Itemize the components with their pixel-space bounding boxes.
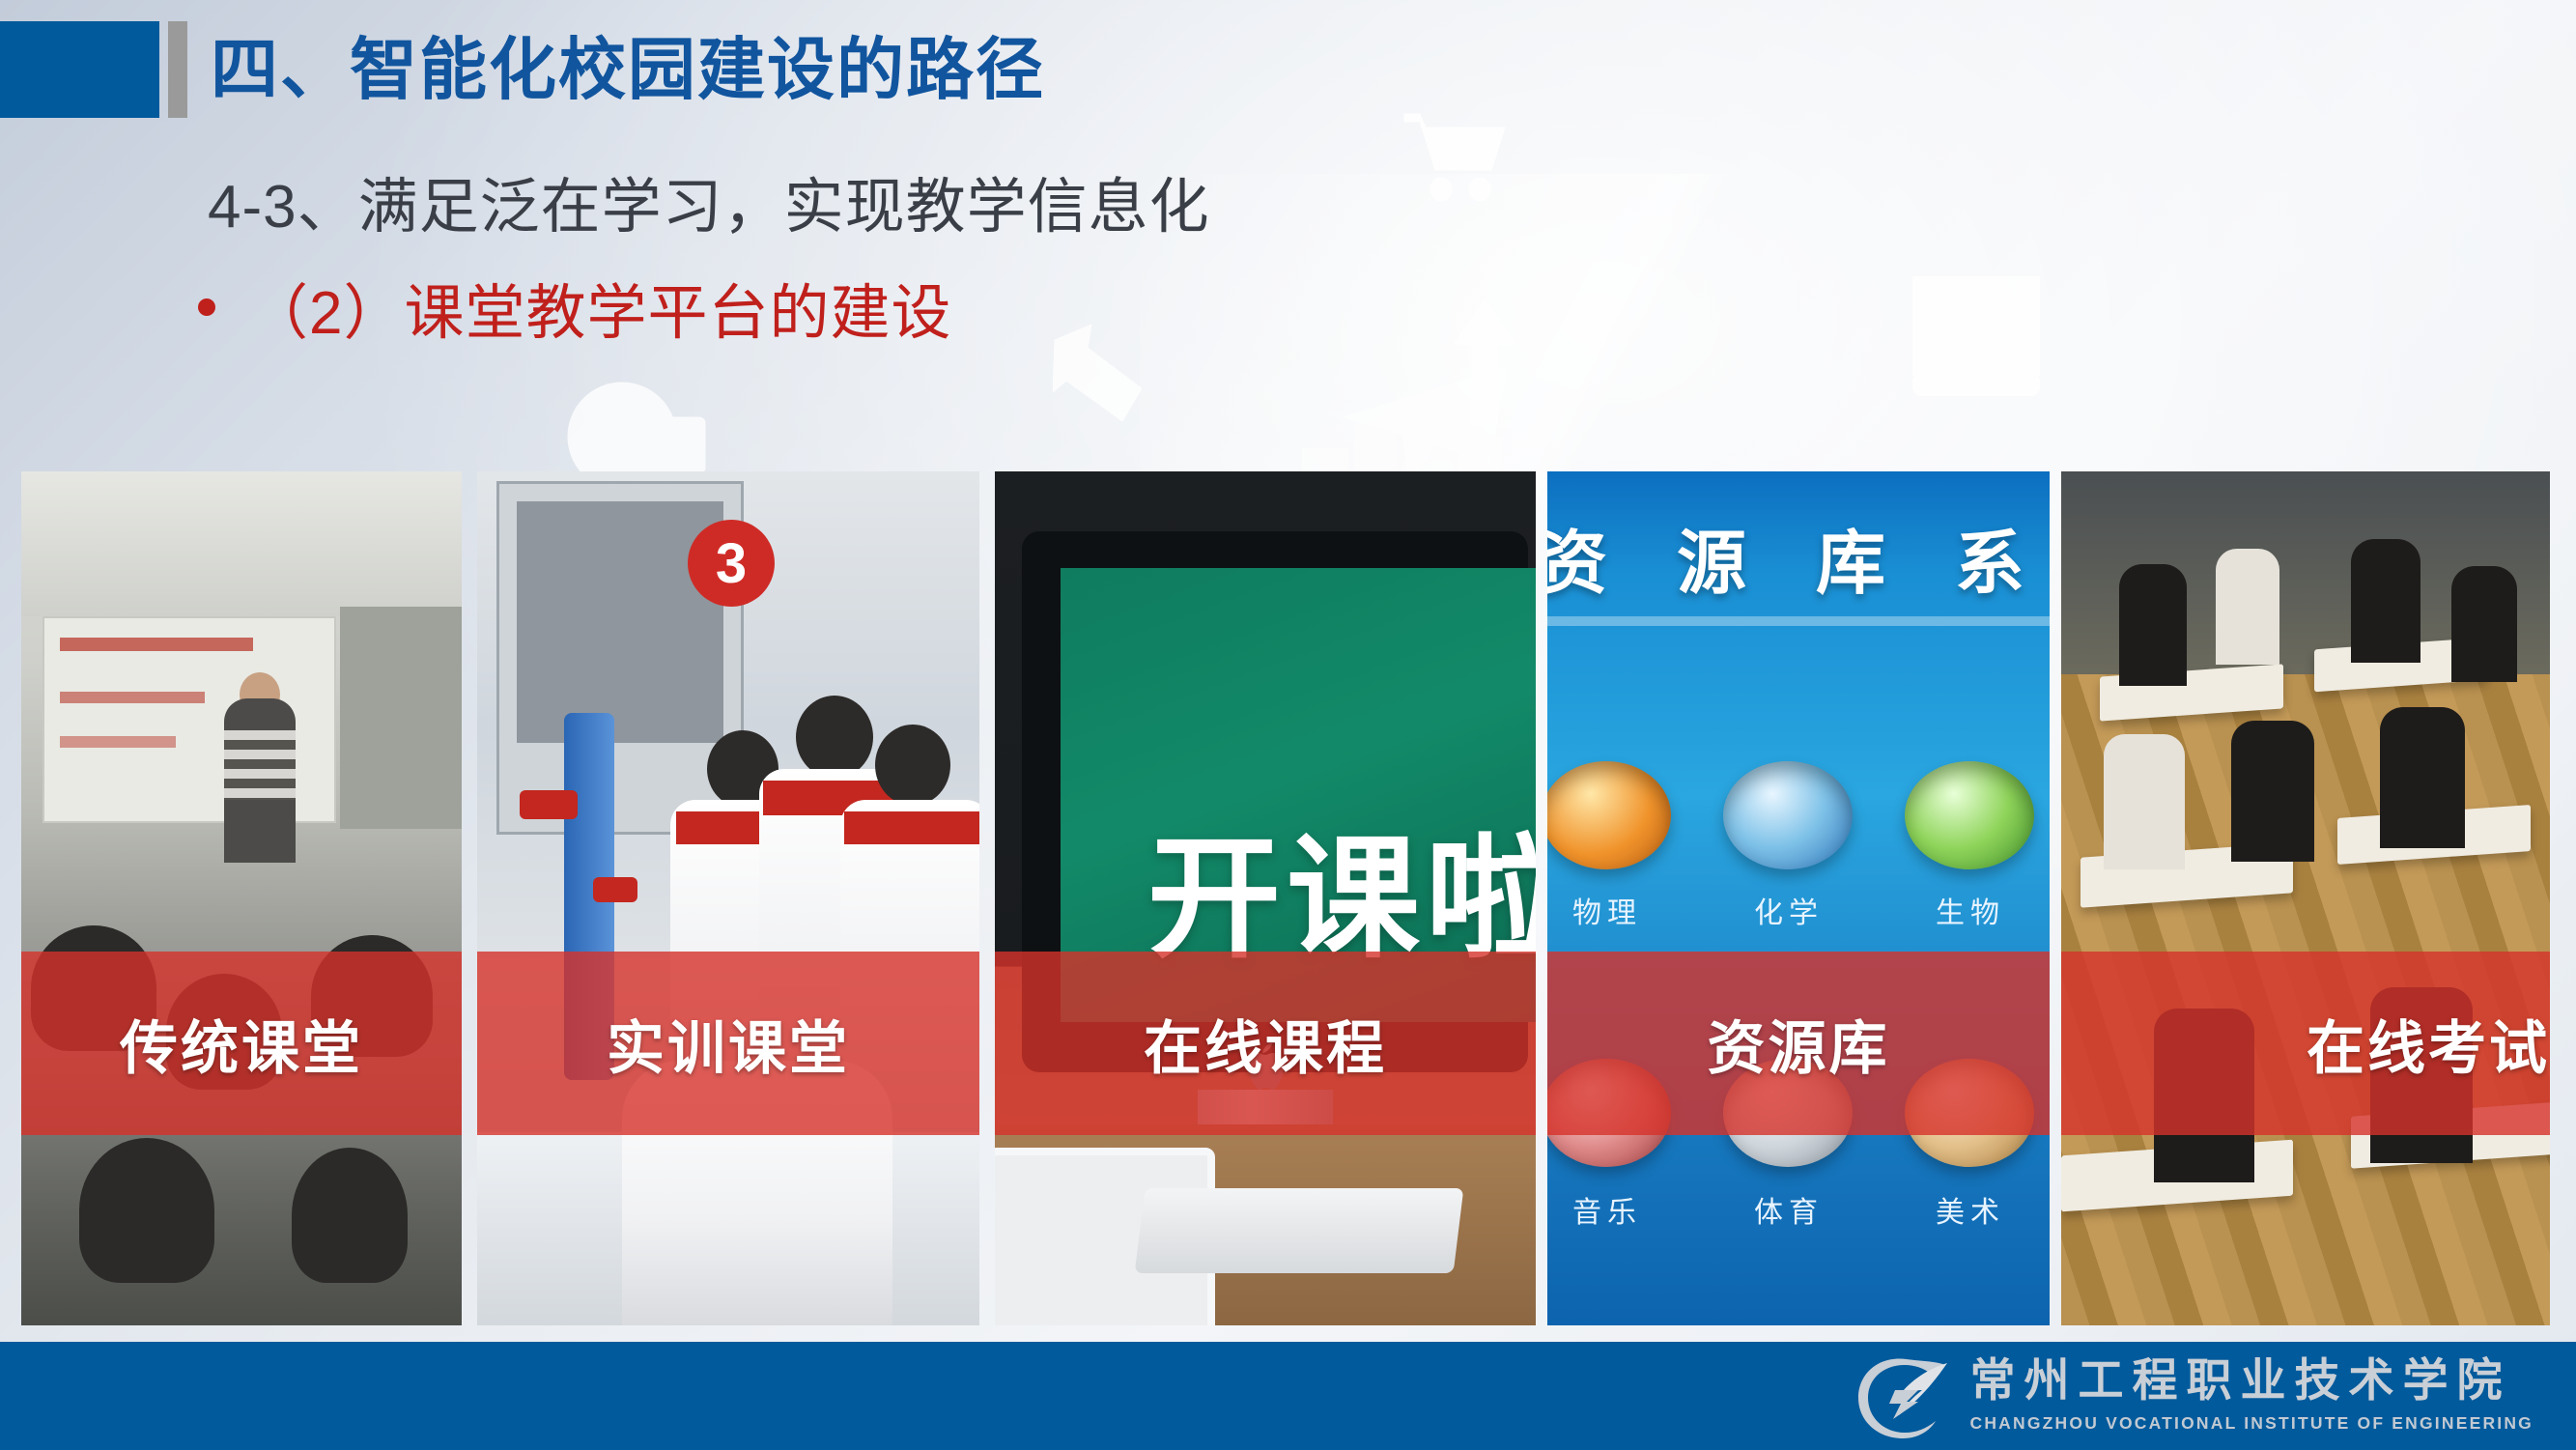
shopping-cart-icon [1402,108,1509,201]
panel-caption-band: 资源库 [1547,952,2050,1135]
panel-resource-library[interactable]: 资 源 库 系 统 物理 化学 生物 音乐 体育 美术 资源库 [1547,471,2050,1325]
panel-training-classroom[interactable]: 3 实训课堂 [477,471,979,1325]
bullet-item: （2）课堂教学平台的建设 [198,264,951,351]
subject-label-music: 音乐 [1547,1188,1684,1231]
panel-caption-label: 在线考试 [2307,1002,2550,1086]
institution-logo: 常州工程职业技术学院 CHANGZHOU VOCATIONAL INSTITUT… [1851,1350,2534,1442]
subject-label-biology: 生物 [1893,889,2048,931]
institution-name-block: 常州工程职业技术学院 CHANGZHOU VOCATIONAL INSTITUT… [1970,1358,2534,1433]
presentation-slide: 四、智能化校园建设的路径 4-3、满足泛在学习，实现教学信息化 （2）课堂教学平… [0,0,2576,1450]
arrow-up-icon [1455,299,1514,425]
bullet-label: （2）课堂教学平台的建设 [248,264,951,351]
panel-caption-label: 在线课程 [1144,1002,1387,1086]
institution-name-en: CHANGZHOU VOCATIONAL INSTITUTE OF ENGINE… [1970,1413,2534,1434]
panel-photo-training-classroom: 3 [477,471,979,1325]
footer-bar: 常州工程职业技术学院 CHANGZHOU VOCATIONAL INSTITUT… [0,1342,2576,1450]
panel-online-exam[interactable]: 在线考试 [2061,471,2550,1325]
image-panel-strip: 传统课堂 3 [0,471,2576,1325]
subject-label-pe: 体育 [1712,1188,1866,1231]
header-divider-bar [168,21,187,118]
panel-photo-online-exam [2061,471,2550,1325]
panel-online-course[interactable]: 开课啦 在线课程 [995,471,1536,1325]
header-accent-block [0,21,159,118]
subject-label-physics: 物理 [1547,889,1684,931]
monitor-chart-icon [1912,276,2040,396]
panel-caption-band: 在线课程 [995,952,1536,1135]
panel-badge: 3 [688,520,775,607]
paper-plane-icon [1343,367,1507,483]
panel-traditional-classroom[interactable]: 传统课堂 [21,471,462,1325]
panel-caption-band: 实训课堂 [477,952,979,1135]
bullet-dot-icon [198,299,215,316]
panel-caption-band: 传统课堂 [21,952,462,1135]
panel-photo-traditional-classroom [21,471,462,1325]
panel-photo-resource-library: 资 源 库 系 统 物理 化学 生物 音乐 体育 美术 [1547,471,2050,1325]
arrow-up-left-icon [1053,325,1142,421]
subject-label-chemistry: 化学 [1712,889,1866,931]
panel-caption-band: 在线考试 [2061,952,2550,1135]
page-title: 四、智能化校园建设的路径 [211,21,1045,118]
panel-caption-label: 实训课堂 [607,1002,850,1086]
panel-caption-label: 资源库 [1708,1002,1890,1086]
resource-system-title: 资 源 库 系 统 [1547,506,2050,608]
panel-photo-online-course: 开课啦 [995,471,1536,1325]
cz-swoosh-logo-icon [1851,1350,1951,1442]
section-subtitle: 4-3、满足泛在学习，实现教学信息化 [208,157,1210,244]
panel-caption-label: 传统课堂 [120,1002,363,1086]
subject-label-art: 美术 [1893,1188,2048,1231]
institution-name-cn: 常州工程职业技术学院 [1970,1358,2534,1406]
